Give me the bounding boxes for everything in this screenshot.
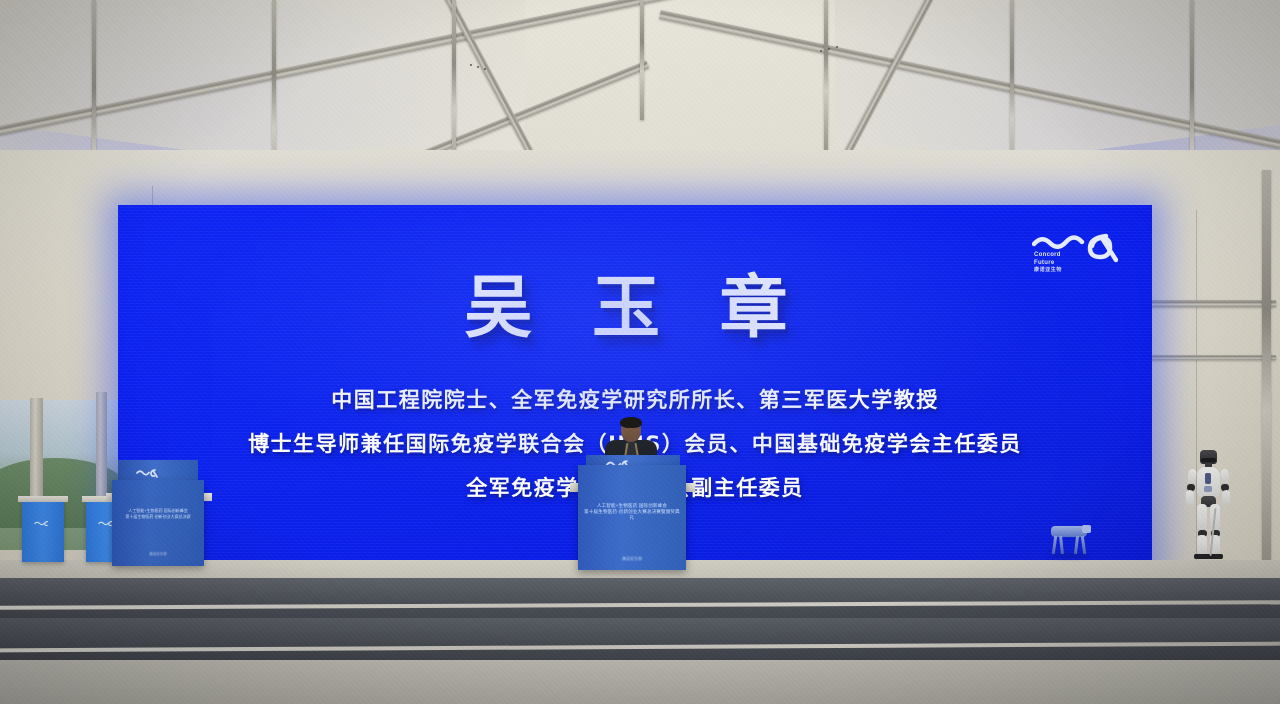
side-podium-text-line-1: 人工智能+生物医药 国际创新峰会 bbox=[118, 508, 198, 514]
humanoid-robot bbox=[1180, 450, 1236, 562]
humanoid-arm-lower-right bbox=[1221, 490, 1230, 507]
robot-dog-leg-3 bbox=[1074, 536, 1079, 554]
display-box-1-top bbox=[18, 496, 68, 502]
logo-line-chinese: 康诺亚生物 bbox=[1034, 267, 1062, 275]
humanoid-chest-panel bbox=[1205, 473, 1211, 484]
presenter-hair bbox=[620, 417, 642, 428]
speaker-podium-front-text: 人工智能+生物医药 国际创新峰会 第十届生物医药·创新创业大赛总决赛暨颁奖典礼 bbox=[584, 503, 680, 521]
robot-dog-shadow bbox=[1049, 554, 1089, 558]
stage-step-upper bbox=[0, 578, 1280, 620]
stage-step-lower bbox=[0, 618, 1280, 662]
humanoid-chest-badge bbox=[1204, 486, 1212, 492]
right-bay-lower-beam bbox=[1150, 355, 1276, 360]
credential-line-1: 中国工程院院士、全军免疫学研究所所长、第三军医大学教授 bbox=[118, 378, 1152, 422]
humanoid-arm-upper-right bbox=[1220, 469, 1230, 486]
humanoid-arm-upper-left bbox=[1187, 469, 1197, 486]
speaker-name-title: 吴 玉 章 bbox=[118, 252, 1152, 351]
robot-dog-leg-4 bbox=[1081, 536, 1086, 554]
robot-dog-leg-1 bbox=[1052, 536, 1057, 554]
side-podium-foot-text: 康诺亚生物 bbox=[128, 552, 188, 557]
robot-dog-head bbox=[1082, 525, 1091, 533]
humanoid-shin-left bbox=[1197, 535, 1207, 555]
robot-dog-leg-2 bbox=[1059, 536, 1064, 554]
podium-text-line-2: 第十届生物医药·创新创业大赛总决赛暨颁奖典礼 bbox=[584, 509, 680, 521]
concord-mark-side-podium-icon bbox=[136, 468, 158, 478]
side-podium-text-line-2: 第十届生物医药·创新创业大赛总决赛 bbox=[118, 514, 198, 520]
humanoid-arm-lower-left bbox=[1185, 490, 1194, 507]
side-podium-logo bbox=[136, 468, 158, 478]
display-box-1 bbox=[22, 500, 64, 562]
humanoid-leg-left bbox=[1197, 504, 1207, 532]
right-bay-header-beam bbox=[1150, 300, 1276, 307]
logo-line-future: Future bbox=[1034, 260, 1062, 268]
floor-foreground bbox=[0, 660, 1280, 704]
roof-purlin-3 bbox=[640, 0, 644, 120]
concord-mark-small-1-icon bbox=[34, 520, 50, 527]
display-box-1-logo bbox=[34, 520, 50, 528]
quadruped-robot-dog bbox=[1046, 524, 1092, 558]
side-podium-front-text: 人工智能+生物医药 国际创新峰会 第十届生物医药·创新创业大赛总决赛 bbox=[118, 508, 198, 519]
humanoid-visor bbox=[1201, 458, 1216, 462]
right-bay-column bbox=[1262, 170, 1271, 570]
concord-future-wordmark: Concord Future 康诺亚生物 bbox=[1034, 252, 1062, 275]
speaker-podium-foot-text: 康诺亚生物 bbox=[594, 556, 670, 562]
roof-purlin-4 bbox=[824, 0, 828, 150]
logo-line-concord: Concord bbox=[1034, 252, 1062, 260]
conference-stage-photo: 吴 玉 章 中国工程院院士、全军免疫学研究所所长、第三军医大学教授 博士生导师兼… bbox=[0, 0, 1280, 704]
concord-future-logo: Concord Future 康诺亚生物 bbox=[1032, 232, 1118, 284]
